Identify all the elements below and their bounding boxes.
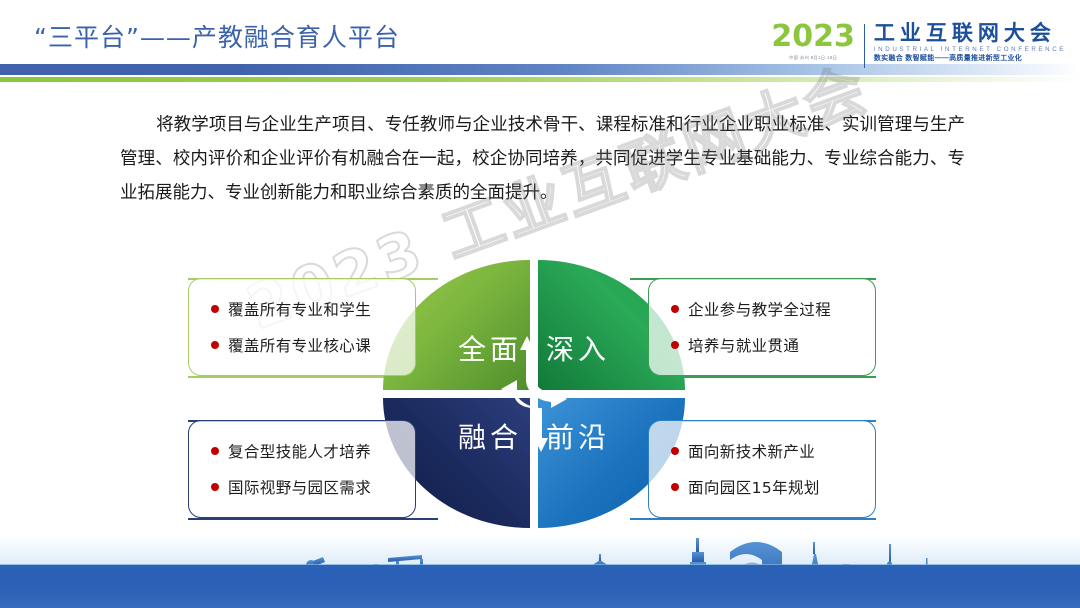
info-box-top-left[interactable]: 覆盖所有专业和学生 覆盖所有专业核心课	[188, 278, 416, 376]
logo-name-en: INDUSTRIAL INTERNET CONFERENCE	[874, 45, 1066, 54]
logo-name-cn: 工业互联网大会	[874, 22, 1066, 45]
logo-year: 2023	[771, 22, 855, 52]
list-item: 面向新技术新产业	[671, 440, 875, 462]
bullet-text: 企业参与教学全过程	[688, 298, 831, 320]
logo-subtitle-cn: 数实融合 数智赋能——高质量推进新型工业化	[874, 54, 1066, 64]
info-box-bottom-right[interactable]: 面向新技术新产业 面向园区15年规划	[648, 420, 876, 518]
body-paragraph: 将教学项目与企业生产项目、专任教师与企业技术骨干、课程标准和行业企业职业标准、实…	[120, 108, 965, 210]
quadrant-label-bottom-right: 前沿	[546, 416, 610, 456]
bullet-dot-icon	[671, 447, 679, 455]
list-item: 企业参与教学全过程	[671, 298, 875, 320]
list-item: 覆盖所有专业和学生	[211, 298, 415, 320]
logo-city-line: 中国·苏州 8月1日-18日	[789, 55, 837, 61]
info-box-top-right[interactable]: 企业参与教学全过程 培养与就业贯通	[648, 278, 876, 376]
four-quadrant-diagram: 全面 深入 融合 前沿	[0, 248, 1080, 548]
logo-name-block: 工业互联网大会 INDUSTRIAL INTERNET CONFERENCE 数…	[865, 22, 1066, 64]
footer-sea-band	[0, 565, 1080, 608]
quadrant-label-top-left: 全面	[458, 328, 522, 368]
bullet-text: 面向新技术新产业	[688, 440, 815, 462]
bullet-text: 培养与就业贯通	[688, 334, 799, 356]
page-title: “三平台”——产教融合育人平台	[34, 18, 400, 54]
list-item: 国际视野与园区需求	[211, 476, 415, 498]
bullet-dot-icon	[211, 305, 219, 313]
bullet-dot-icon	[211, 341, 219, 349]
bullet-dot-icon	[211, 447, 219, 455]
bullet-text: 面向园区15年规划	[688, 476, 820, 498]
bullet-text: 国际视野与园区需求	[228, 476, 371, 498]
paragraph-text: 将教学项目与企业生产项目、专任教师与企业技术骨干、课程标准和行业企业职业标准、实…	[120, 115, 965, 203]
quadrant-label-bottom-left: 融合	[458, 416, 522, 456]
bullet-dot-icon	[671, 341, 679, 349]
list-item: 面向园区15年规划	[671, 476, 875, 498]
slide-canvas: “三平台”——产教融合育人平台 2023 中国·苏州 8月1日-18日 工业互联…	[0, 0, 1080, 608]
header-left-notch	[20, 82, 23, 100]
header-divider-green	[0, 77, 1080, 82]
bullet-dot-icon	[671, 305, 679, 313]
bullet-dot-icon	[671, 483, 679, 491]
info-box-bottom-left[interactable]: 复合型技能人才培养 国际视野与园区需求	[188, 420, 416, 518]
list-item: 复合型技能人才培养	[211, 440, 415, 462]
bullet-text: 复合型技能人才培养	[228, 440, 371, 462]
list-item: 培养与就业贯通	[671, 334, 875, 356]
conference-logo: 2023 中国·苏州 8月1日-18日 工业互联网大会 INDUSTRIAL I…	[771, 22, 1066, 70]
bullet-dot-icon	[211, 483, 219, 491]
quadrant-label-top-right: 深入	[546, 328, 610, 368]
bullet-text: 覆盖所有专业和学生	[228, 298, 371, 320]
list-item: 覆盖所有专业核心课	[211, 334, 415, 356]
bullet-text: 覆盖所有专业核心课	[228, 334, 371, 356]
logo-year-block: 2023 中国·苏州 8月1日-18日	[771, 22, 864, 61]
footer-decoration	[0, 528, 1080, 608]
quadrant-circle: 全面 深入 融合 前沿	[383, 260, 685, 528]
